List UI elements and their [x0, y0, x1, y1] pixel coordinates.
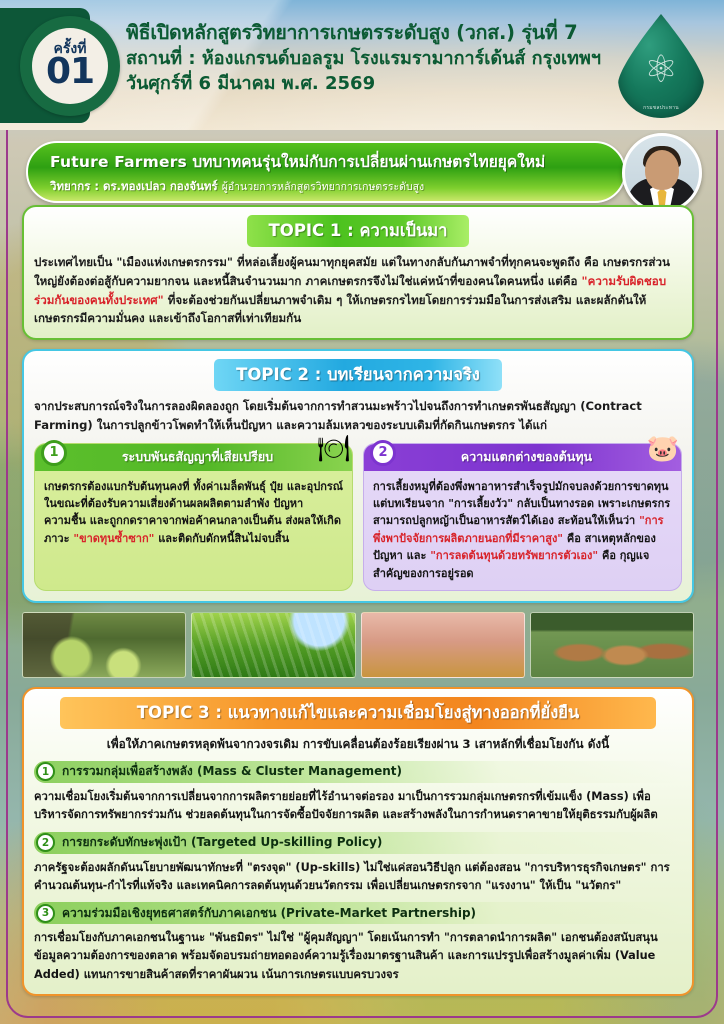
topic2-card-1-highlight: "ขาดทุนซ้ำซาก": [73, 532, 154, 545]
event-date: วันศุกร์ที่ 6 มีนาคม พ.ศ. 2569: [126, 71, 586, 97]
topic3-heading: TOPIC 3 : แนวทางแก้ไขและความเชื่อมโยงสู่…: [60, 697, 656, 729]
corn-field-photo: [191, 612, 355, 678]
topic3-pillar-3-header: 3 ความร่วมมือเชิงยุทธศาสตร์กับภาคเอกชน (…: [34, 902, 682, 924]
speaker-bar: Future Farmers บทบาทคนรุ่นใหม่กับการเปลี…: [26, 141, 626, 203]
coconut-farm-photo: [22, 612, 186, 678]
topic2-card-2-title: ความแตกต่างของต้นทุน: [398, 447, 681, 467]
topic2-card-1-body: เกษตรกรต้องแบกรับต้นทุนคงที่ ทั้งค่าเมล็…: [35, 471, 352, 548]
poster-header: ครั้งที่ 01 พิธีเปิดหลักสูตรวิทยาการเกษต…: [0, 0, 724, 130]
header-titles: พิธีเปิดหลักสูตรวิทยาการเกษตรระดับสูง (ว…: [126, 20, 586, 97]
topic3-pillar-2-header: 2 การยกระดับทักษะพุ่งเป้า (Targeted Up-s…: [34, 832, 682, 854]
topic2-card-2-highlight-b: "การลดต้นทุนด้วยทรัพยากรตัวเอง": [430, 549, 598, 562]
speaker-position: ผู้อำนวยการหลักสูตรวิทยาการเกษตรระดับสูง: [222, 181, 424, 193]
event-title: พิธีเปิดหลักสูตรวิทยาการเกษตรระดับสูง (ว…: [126, 20, 586, 46]
speaker-avatar: [622, 133, 702, 213]
session-badge: ครั้งที่ 01: [20, 16, 120, 116]
topic3-lead: เพื่อให้ภาคเกษตรหลุดพ้นจากวงจรเดิม การขั…: [34, 735, 682, 754]
session-badge-inner: ครั้งที่ 01: [32, 28, 108, 104]
pigs-photo: [361, 612, 525, 678]
topic3-pillar-1-title: การรวมกลุ่มเพื่อสร้างพลัง (Mass & Cluste…: [62, 762, 402, 781]
photo-strip: [22, 612, 694, 678]
topic2-card-1-header: 1 ระบบพันธสัญญาที่เสียเปรียบ 🍽: [35, 444, 352, 471]
topic1-body: ประเทศไทยเป็น "เมืองแห่งเกษตรกรรม" ที่หล…: [34, 253, 682, 328]
topic3-pillar-2-body: ภาครัฐจะต้องผลักดันนโยบายพัฒนาทักษะที่ "…: [34, 859, 682, 896]
speaker-credit: วิทยากร : ดร.ทองเปลว กองจันทร์ ผู้อำนวยก…: [50, 178, 534, 196]
cattle-photo: [530, 612, 694, 678]
speaker-topic-th: บทบาทคนรุ่นใหม่กับการเปลี่ยนผ่านเกษตรไทย…: [192, 153, 545, 171]
topic2-heading: TOPIC 2 : บทเรียนจากความจริง: [214, 359, 502, 391]
topic1-panel: TOPIC 1 : ความเป็นมา ประเทศไทยเป็น "เมือ…: [22, 205, 694, 340]
topic3-pillar-1-header: 1 การรวมกลุ่มเพื่อสร้างพลัง (Mass & Clus…: [34, 761, 682, 783]
topic2-card-2-body: การเลี้ยงหมูที่ต้องพึ่งพาอาหารสำเร็จรูปม…: [364, 471, 681, 582]
topic3-pillar-3-number: 3: [36, 904, 55, 923]
speaker-topic: Future Farmers บทบาทคนรุ่นใหม่กับการเปลี…: [50, 149, 534, 174]
topic2-card-2-number: 2: [370, 440, 396, 466]
topic2-card-1: 1 ระบบพันธสัญญาที่เสียเปรียบ 🍽 เกษตรกรต้…: [34, 443, 353, 591]
pig-icon: 🐷: [647, 436, 679, 462]
topic2-card-2: 2 ความแตกต่างของต้นทุน 🐷 การเลี้ยงหมูที่…: [363, 443, 682, 591]
topic2-card-1-title: ระบบพันธสัญญาที่เสียเปรียบ: [69, 447, 352, 467]
topic3-pillar-1-body: ความเชื่อมโยงเริ่มต้นจากการเปลี่ยนจากการ…: [34, 788, 682, 825]
topic2-card-1-number: 1: [41, 440, 67, 466]
topic3-pillar-2-title: การยกระดับทักษะพุ่งเป้า (Targeted Up-ski…: [62, 833, 382, 852]
speaker-name: ดร.ทองเปลว กองจันทร์: [103, 179, 218, 193]
topic1-heading: TOPIC 1 : ความเป็นมา: [247, 215, 470, 247]
speaker-label: วิทยากร :: [50, 179, 103, 193]
topic3-pillar-3-body: การเชื่อมโยงกับภาคเอกชนในฐานะ "พันธมิตร"…: [34, 929, 682, 984]
avatar-face: [645, 150, 679, 190]
event-venue: สถานที่ : ห้องแกรนด์บอลรูม โรงแรมรามาการ…: [126, 46, 586, 72]
logo-caption: กรมชลประทาน: [643, 104, 679, 118]
topic2-card-2-header: 2 ความแตกต่างของต้นทุน 🐷: [364, 444, 681, 471]
topic3-panel: TOPIC 3 : แนวทางแก้ไขและความเชื่อมโยงสู่…: [22, 687, 694, 996]
session-badge-number: 01: [46, 54, 94, 90]
topic3-pillar-3-title: ความร่วมมือเชิงยุทธศาสตร์กับภาคเอกชน (Pr…: [62, 904, 476, 923]
topic3-pillar-2-number: 2: [36, 833, 55, 852]
farm-field-icon: 🍽: [317, 436, 350, 462]
topic2-card-1-text-b: และติดกับดักหนี้สินไม่จบสิ้น: [154, 532, 289, 545]
topic2-cards: 1 ระบบพันธสัญญาที่เสียเปรียบ 🍽 เกษตรกรต้…: [34, 443, 682, 591]
topic2-panel: TOPIC 2 : บทเรียนจากความจริง จากประสบการ…: [22, 349, 694, 603]
speaker-topic-en: Future Farmers: [50, 153, 187, 171]
topic2-card-2-text-a: การเลี้ยงหมูที่ต้องพึ่งพาอาหารสำเร็จรูปม…: [373, 480, 670, 528]
topic1-para-a: ประเทศไทยเป็น "เมืองแห่งเกษตรกรรม" ที่หล…: [34, 255, 670, 288]
poster-content: TOPIC 1 : ความเป็นมา ประเทศไทยเป็น "เมือ…: [22, 205, 694, 996]
topic2-intro: จากประสบการณ์จริงในการลองผิดลองถูก โดยเร…: [34, 397, 682, 435]
